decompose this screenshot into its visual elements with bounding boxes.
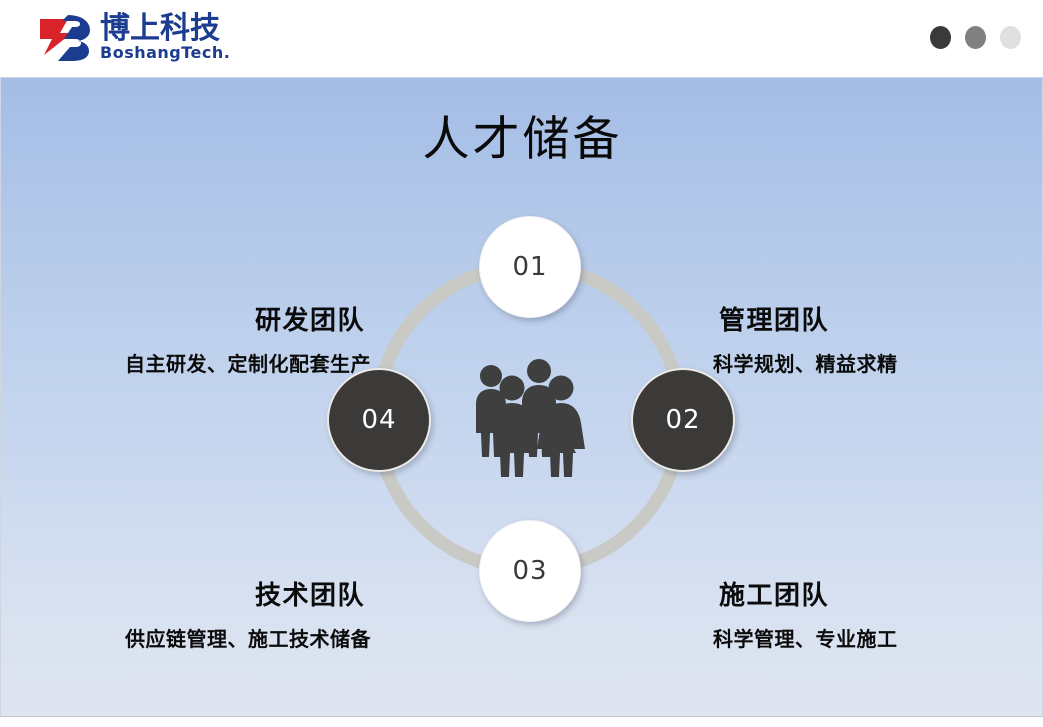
slide-bottom-margin [0,717,1043,727]
slide-body: 人才储备 [0,78,1043,717]
dot-medium-icon [965,26,986,49]
quadrant-title-construction-team: 施工团队 [713,575,1013,612]
logo-chinese-name: 博上科技 [100,14,230,44]
boshang-logo-mark [38,11,94,63]
node-04-number: 04 [361,405,396,435]
logo-english-name: BoshangTech. [100,45,230,61]
node-02-number: 02 [665,405,700,435]
quadrant-label-top-right: 管理团队 科学规划、精益求精 [713,300,1013,377]
quadrant-label-bottom-right: 施工团队 科学管理、专业施工 [713,575,1013,652]
cycle-diagram: 01 02 03 04 [319,208,739,628]
diagram-node-04[interactable]: 04 [327,368,431,472]
people-group-icon [464,353,594,483]
quadrant-title-technical-team: 技术团队 [61,575,371,612]
quadrant-label-bottom-left: 技术团队 供应链管理、施工技术储备 [61,575,371,652]
quadrant-title-management-team: 管理团队 [713,300,1013,337]
quadrant-subtitle-management-team: 科学规划、精益求精 [713,348,1013,377]
quadrant-subtitle-rd-team: 自主研发、定制化配套生产 [61,348,371,377]
dot-light-icon [1000,26,1021,49]
node-01-number: 01 [512,252,547,282]
quadrant-subtitle-construction-team: 科学管理、专业施工 [713,623,1013,652]
diagram-node-03[interactable]: 03 [479,520,581,622]
slide-header: 博上科技 BoshangTech. [0,0,1043,78]
company-logo: 博上科技 BoshangTech. [38,11,230,63]
diagram-node-02[interactable]: 02 [631,368,735,472]
quadrant-title-rd-team: 研发团队 [61,300,371,337]
header-decor-dots [930,26,1021,49]
node-03-number: 03 [512,556,547,586]
diagram-node-01[interactable]: 01 [479,216,581,318]
dot-dark-icon [930,26,951,49]
page-title: 人才储备 [1,100,1043,169]
quadrant-subtitle-technical-team: 供应链管理、施工技术储备 [61,623,371,652]
quadrant-label-top-left: 研发团队 自主研发、定制化配套生产 [61,300,371,377]
logo-text: 博上科技 BoshangTech. [100,14,230,61]
presentation-slide: 博上科技 BoshangTech. 人才储备 [0,0,1043,727]
